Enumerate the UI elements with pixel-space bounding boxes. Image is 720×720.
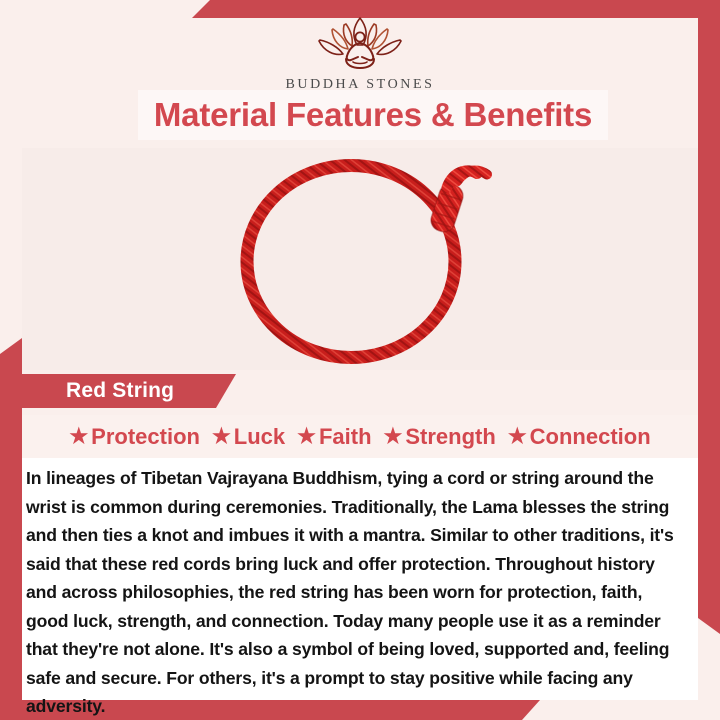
ribbon-label: Red String [18, 379, 174, 403]
brand-logo: BUDDHA STONES [0, 14, 720, 93]
ribbon-red-string: Red String [18, 374, 236, 408]
feature-label: Luck [234, 424, 285, 450]
star-icon: ★ [212, 426, 231, 447]
star-icon: ★ [297, 426, 316, 447]
lotus-meditation-icon [0, 14, 720, 75]
poster-canvas: BUDDHA STONES Material Features & Benefi… [0, 0, 720, 720]
feature-connection: ★ Connection [508, 424, 651, 450]
headline-banner: Material Features & Benefits [138, 90, 608, 140]
feature-faith: ★ Faith [297, 424, 379, 450]
product-image [22, 148, 698, 370]
description-panel: In lineages of Tibetan Vajrayana Buddhis… [22, 458, 698, 700]
star-icon: ★ [508, 426, 527, 447]
decorative-band-right [698, 0, 720, 634]
feature-luck: ★ Luck [212, 424, 293, 450]
feature-label: Protection [91, 424, 200, 450]
star-icon: ★ [69, 426, 88, 447]
feature-label: Connection [530, 424, 651, 450]
feature-label: Faith [319, 424, 372, 450]
features-list: ★ Protection ★ Luck ★ Faith ★ Strength ★… [22, 415, 698, 458]
page-title: Material Features & Benefits [154, 96, 592, 134]
feature-label: Strength [405, 424, 495, 450]
feature-protection: ★ Protection [69, 424, 208, 450]
feature-strength: ★ Strength [384, 424, 504, 450]
description-text: In lineages of Tibetan Vajrayana Buddhis… [26, 464, 688, 720]
star-icon: ★ [384, 426, 403, 447]
